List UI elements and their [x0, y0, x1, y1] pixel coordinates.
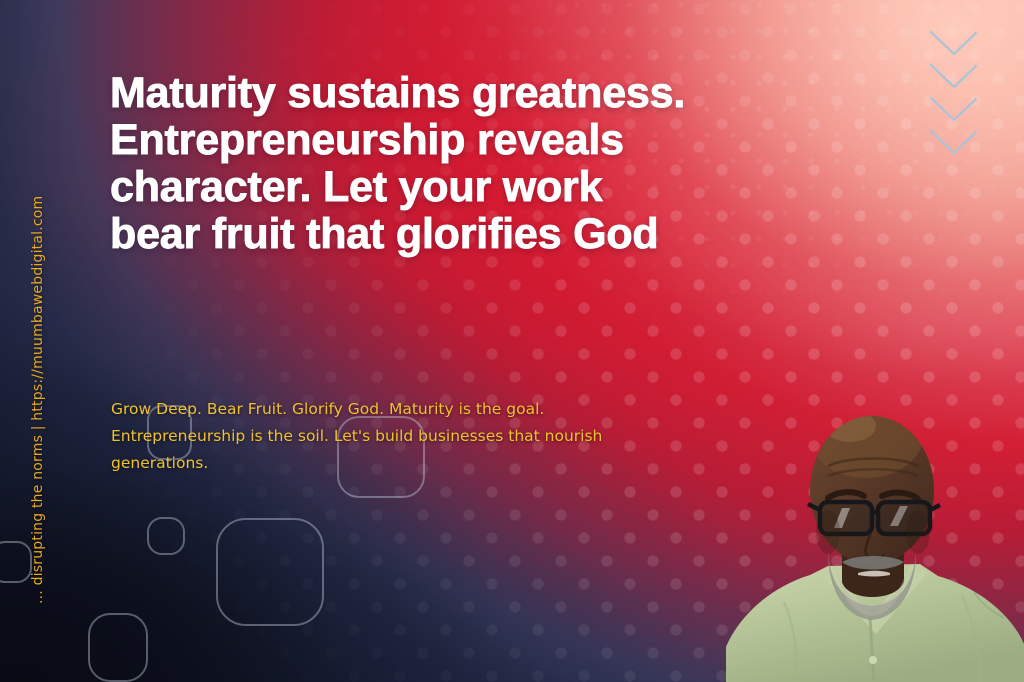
rounded-square-4 — [216, 518, 324, 626]
rounded-square-5 — [88, 613, 148, 682]
rounded-square-6 — [0, 541, 32, 583]
chevron-down-icon-1 — [928, 28, 980, 58]
chevron-down-icon-3 — [928, 94, 980, 124]
rounded-square-3 — [147, 517, 185, 555]
promo-banner: ... disrupting the norms | https://muumb… — [0, 0, 1024, 682]
chevron-stack — [928, 28, 984, 178]
subtitle-text: Grow Deep. Bear Fruit. Glorify God. Matu… — [111, 396, 681, 477]
page-title: Maturity sustains greatness. Entrepreneu… — [110, 70, 690, 258]
chevron-down-icon-2 — [928, 61, 980, 91]
presenter-photo — [724, 412, 1024, 682]
chevron-down-icon-4 — [928, 127, 980, 157]
side-url-text: ... disrupting the norms | https://muumb… — [30, 196, 46, 604]
